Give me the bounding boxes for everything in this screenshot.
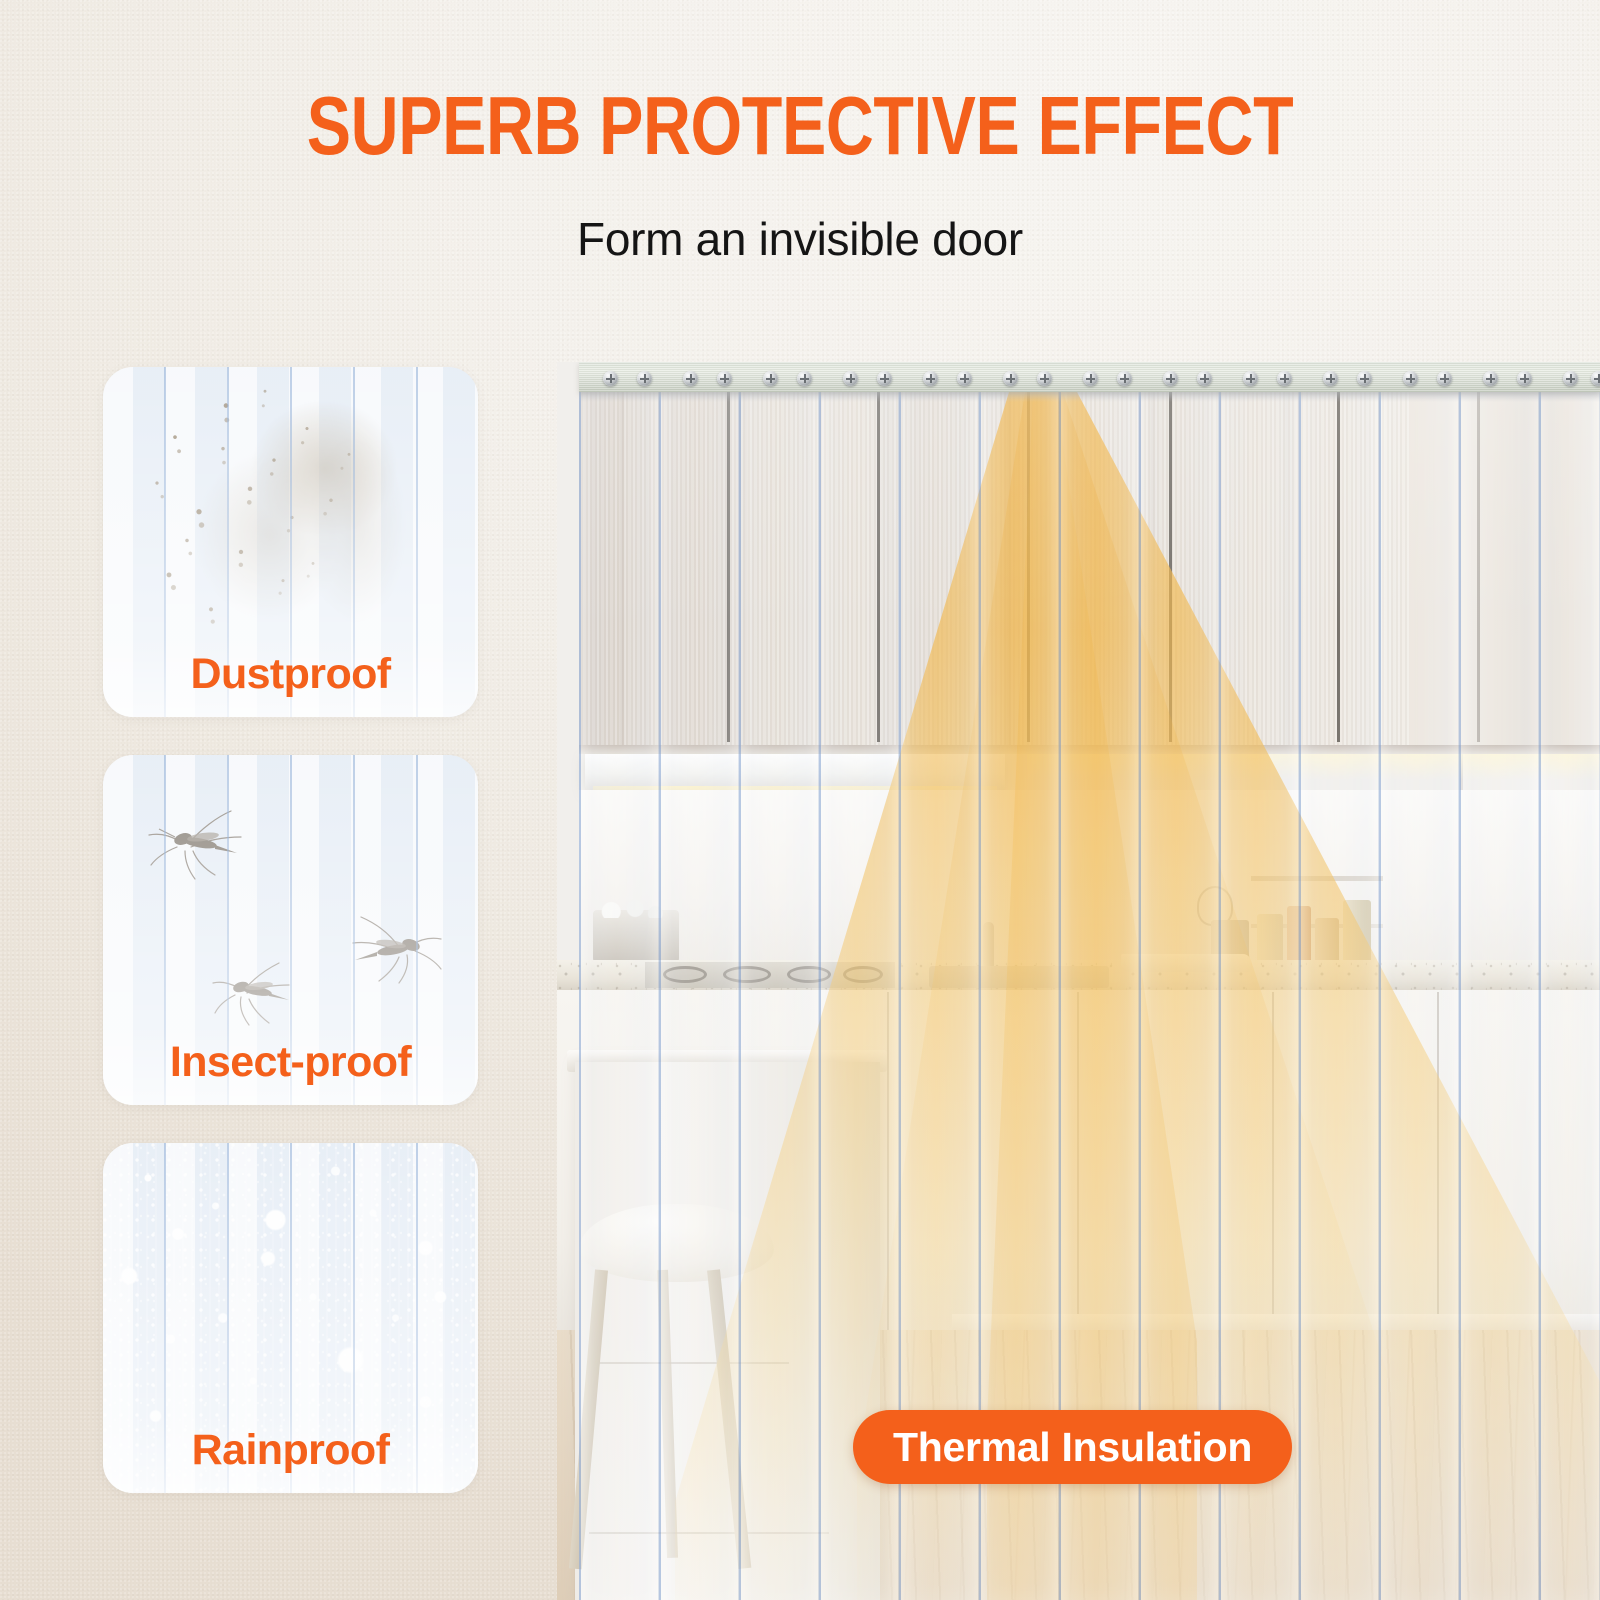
pvc-strip[interactable] [659,362,739,1600]
screw-icon [763,371,778,386]
screw-icon [1037,371,1052,386]
pvc-strip[interactable] [739,362,819,1600]
feature-card-dustproof: Dustproof [103,367,478,717]
feature-card-label-dustproof: Dustproof [103,650,478,699]
screw-icon [1277,371,1292,386]
feature-card-rainproof: Rainproof [103,1143,478,1493]
screw-icon [1517,371,1532,386]
status-badge-label: Thermal Insulation [893,1424,1252,1471]
page-subtitle: Form an invisible door [0,212,1600,266]
pvc-strip[interactable] [1459,362,1539,1600]
status-badge-thermal-insulation[interactable]: Thermal Insulation [853,1410,1292,1484]
screw-icon [637,371,652,386]
feature-card-insect-proof: Insect-proof [103,755,478,1105]
feature-card-label-insect-proof: Insect-proof [103,1038,478,1087]
screw-icon [1197,371,1212,386]
screw-icon [1003,371,1018,386]
screw-icon [1117,371,1132,386]
screw-icon [1163,371,1178,386]
screw-icon [1357,371,1372,386]
pvc-strip[interactable] [1299,362,1379,1600]
screw-icon [1323,371,1338,386]
pvc-strip[interactable] [1379,362,1459,1600]
feature-card-label-rainproof: Rainproof [103,1426,478,1475]
screw-icon [797,371,812,386]
screw-icon [1243,371,1258,386]
rail-drop-shadow [579,392,1600,402]
screw-icon [923,371,938,386]
screw-icon [1563,371,1578,386]
screw-icon [1483,371,1498,386]
screw-icon [603,371,618,386]
screw-icon [1437,371,1452,386]
screw-icon [957,371,972,386]
pvc-strip[interactable] [1539,362,1600,1600]
screw-icon [717,371,732,386]
screw-icon [1403,371,1418,386]
screw-icon [683,371,698,386]
page-title: SUPERB PROTECTIVE EFFECT [160,84,1440,167]
screw-icon [877,371,892,386]
screw-icon [1591,371,1600,386]
pvc-strip[interactable] [579,362,659,1600]
screw-icon [1083,371,1098,386]
screw-icon [843,371,858,386]
